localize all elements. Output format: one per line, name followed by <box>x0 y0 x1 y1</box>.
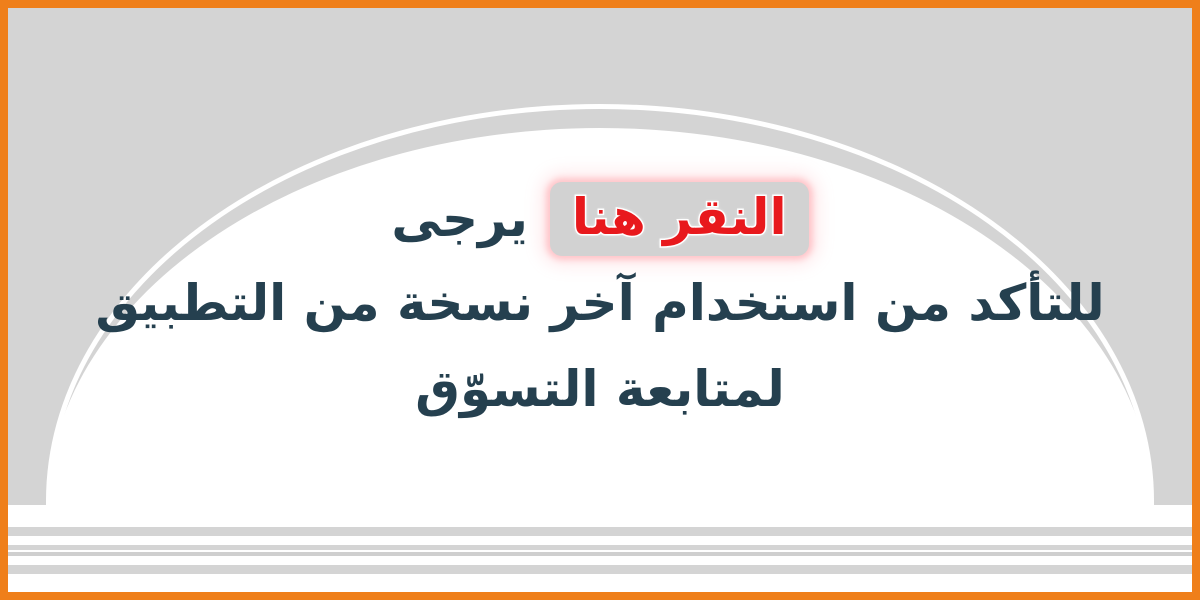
rule-3 <box>8 552 1192 556</box>
message-line-1: النقر هنا يرجى <box>0 182 1200 256</box>
message-line-2: للتأكد من استخدام آخر نسخة من التطبيق <box>0 278 1200 328</box>
rule-2 <box>8 545 1192 550</box>
frame-border-top <box>0 0 1200 8</box>
message-line-3: لمتابعة التسوّق <box>0 364 1200 414</box>
message-block: النقر هنا يرجى للتأكد من استخدام آخر نسخ… <box>0 182 1200 414</box>
frame-border-bottom <box>0 592 1200 600</box>
click-here-cta[interactable]: النقر هنا <box>550 182 809 256</box>
frame-border-right <box>1192 0 1200 600</box>
message-line-1-prefix: يرجى <box>391 194 528 244</box>
rule-1 <box>8 527 1192 536</box>
frame-border-left <box>0 0 8 600</box>
bottom-rules-group <box>8 512 1192 592</box>
rule-4 <box>8 565 1192 574</box>
promo-banner: النقر هنا يرجى للتأكد من استخدام آخر نسخ… <box>0 0 1200 600</box>
